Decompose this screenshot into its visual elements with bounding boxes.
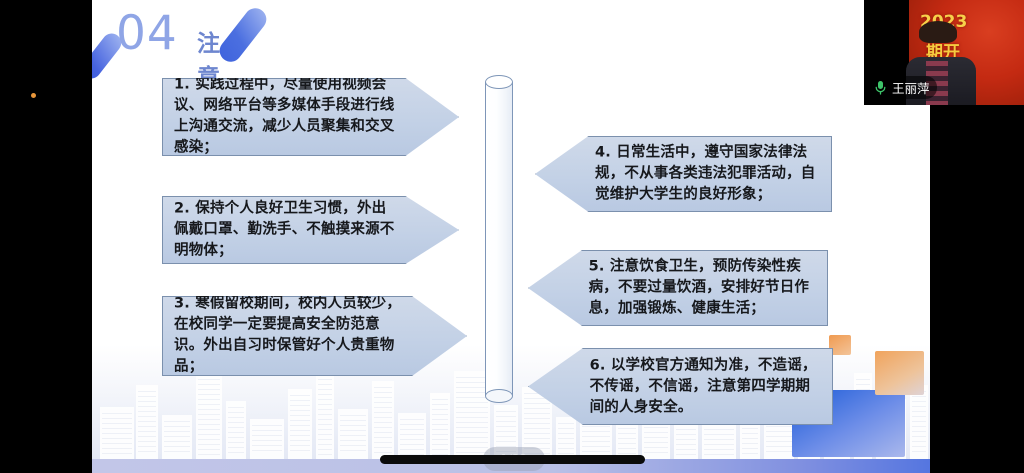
- note-box-6-text: 6. 以学校官方通知为准，不造谣，不传谣，不信谣，注意第四学期期间的人身安全。: [590, 355, 821, 418]
- decoration-square-orange: [875, 351, 924, 395]
- presentation-slide: 04 注意事项 1. 实践过程中，尽量使用视频会议、网络平台等多媒体手段进行线上…: [92, 0, 930, 473]
- decoration-bar-large: [215, 4, 271, 66]
- note-box-1: 1. 实践过程中，尽量使用视频会议、网络平台等多媒体手段进行线上沟通交流，减少人…: [162, 78, 459, 156]
- participant-name-chip: 王丽萍: [870, 76, 937, 99]
- screen-share-view: 04 注意事项 1. 实践过程中，尽量使用视频会议、网络平台等多媒体手段进行线上…: [0, 0, 1024, 473]
- letterbox-left: [0, 0, 92, 473]
- note-box-6: 6. 以学校官方通知为准，不造谣，不传谣，不信谣，注意第四学期期间的人身安全。: [528, 348, 833, 425]
- note-box-4: 4. 日常生活中，遵守国家法律法规，不从事各类违法犯罪活动，自觉维护大学生的良好…: [535, 136, 832, 212]
- status-dot: [31, 93, 36, 98]
- note-box-2: 2. 保持个人良好卫生习惯，外出佩戴口罩、勤洗手、不触摸来源不明物体；: [162, 196, 459, 264]
- participant-name: 王丽萍: [892, 78, 930, 97]
- section-number: 04: [116, 10, 178, 57]
- note-box-3-text: 3. 寒假留校期间，校内人员较少，在校同学一定要提高安全防范意识。外出自习时保管…: [174, 294, 405, 379]
- note-box-5: 5. 注意饮食卫生，预防传染性疾病，不要过量饮酒，安排好节日作息，加强锻炼、健康…: [528, 250, 828, 326]
- participant-video-tile[interactable]: 2023 期开 王丽萍: [864, 0, 1024, 105]
- note-box-2-text: 2. 保持个人良好卫生习惯，外出佩戴口罩、勤洗手、不触摸来源不明物体；: [174, 198, 399, 261]
- microphone-icon: [874, 80, 887, 95]
- note-box-3: 3. 寒假留校期间，校内人员较少，在校同学一定要提高安全防范意识。外出自习时保管…: [162, 296, 467, 376]
- note-box-4-text: 4. 日常生活中，遵守国家法律法规，不从事各类违法犯罪活动，自觉维护大学生的良好…: [595, 142, 820, 205]
- note-box-1-text: 1. 实践过程中，尽量使用视频会议、网络平台等多媒体手段进行线上沟通交流，减少人…: [174, 75, 399, 160]
- cylinder-divider: [485, 75, 513, 403]
- note-box-5-text: 5. 注意饮食卫生，预防传染性疾病，不要过量饮酒，安排好节日作息，加强锻炼、健康…: [589, 256, 816, 319]
- player-control-bar[interactable]: [380, 455, 645, 464]
